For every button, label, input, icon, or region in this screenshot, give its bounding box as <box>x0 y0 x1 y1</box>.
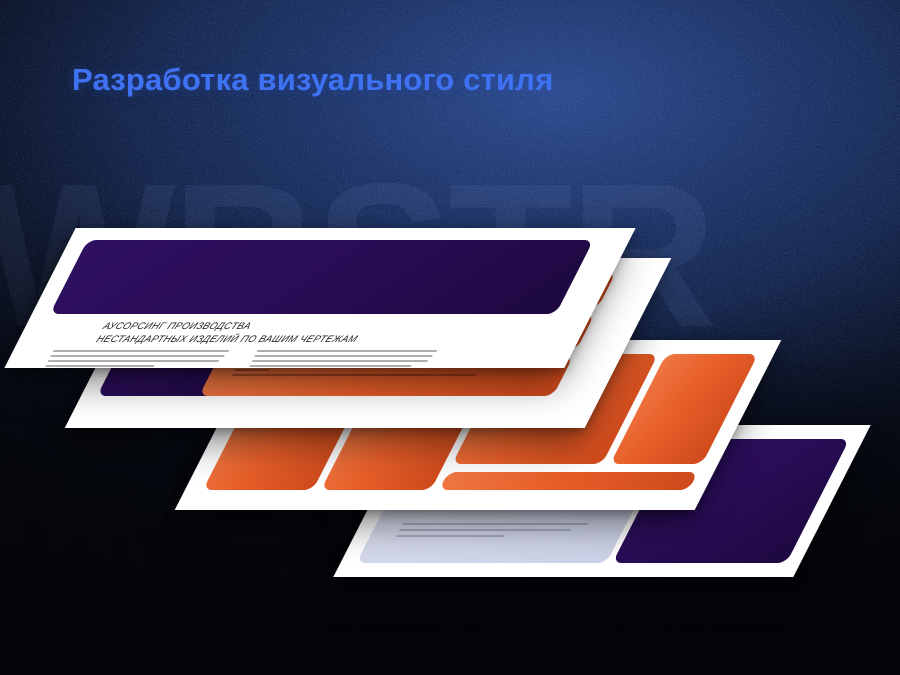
presentation-visual-style-slide: WBSTR WBSTR Мы производим высокоточные т… <box>0 0 900 675</box>
slide-about-body-lines <box>396 523 589 537</box>
slide-cover-heading: АУСОРСИНГ ПРОИЗВОДСТВА НЕСТАНДАРТНЫХ ИЗД… <box>93 320 506 346</box>
slide-deck: Мы производим высокоточные токарные изде… <box>0 0 900 675</box>
page-title: Разработка визуального стиля <box>72 62 553 98</box>
service-card[interactable] <box>439 472 698 490</box>
slide-outsourcing-cover[interactable]: АУСОРСИНГ ПРОИЗВОДСТВА НЕСТАНДАРТНЫХ ИЗД… <box>4 228 635 368</box>
panel-cover-hero <box>50 240 594 314</box>
